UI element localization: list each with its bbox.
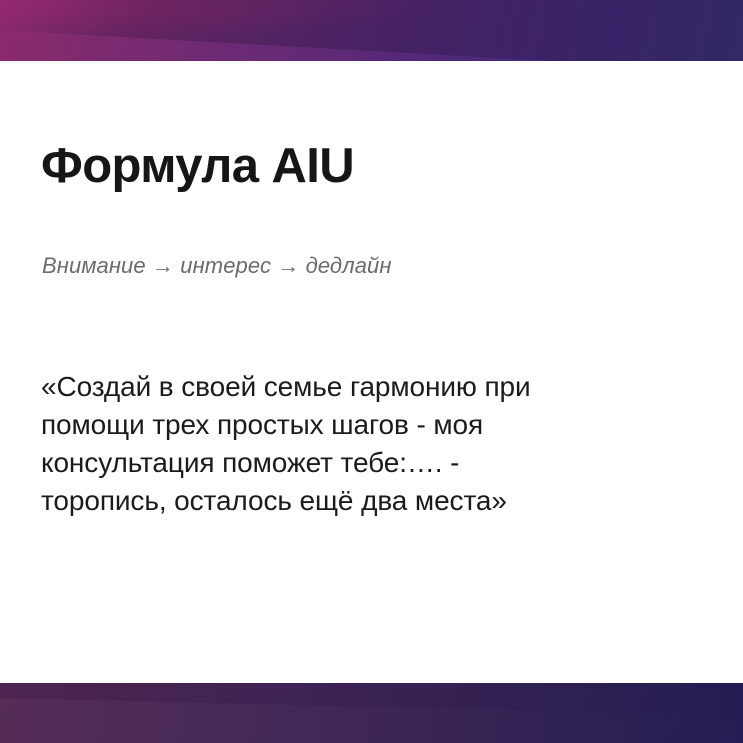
quote-block: «Создай в своей семье гармонию при помощ… (41, 368, 689, 520)
quote-line: консультация поможет тебе:…. - (41, 444, 689, 482)
quote-line: торопись, осталось ещё два места» (41, 482, 689, 520)
bottom-gradient-band (0, 683, 743, 743)
subtitle: Внимание → интерес → дедлайн (42, 253, 392, 279)
quote-line: помощи трех простых шагов - моя (41, 406, 689, 444)
slide-canvas: Формула AIU Внимание → интерес → дедлайн… (0, 0, 743, 743)
quote-line: «Создай в своей семье гармонию при (41, 368, 689, 406)
top-gradient-band (0, 0, 743, 61)
page-title: Формула AIU (41, 140, 354, 194)
bottom-band-diagonal-streak (0, 697, 743, 743)
